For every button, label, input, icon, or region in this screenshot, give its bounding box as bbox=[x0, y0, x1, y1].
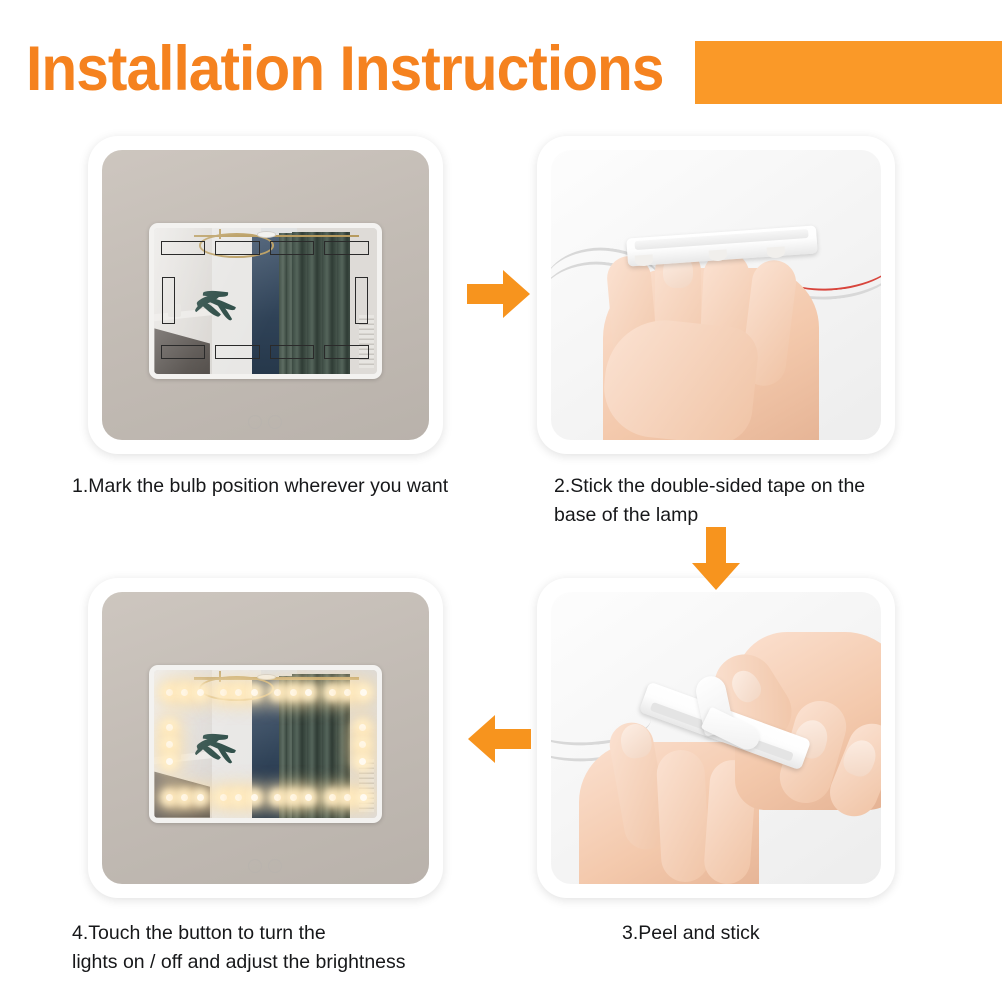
bulb-mark-top-4 bbox=[324, 241, 368, 256]
step-2-photo bbox=[551, 150, 881, 440]
led-module-top-3 bbox=[270, 685, 314, 698]
arrow-left-icon bbox=[467, 713, 531, 765]
mirror-glass bbox=[154, 228, 376, 375]
bulb-mark-bottom-3 bbox=[270, 345, 314, 360]
led-module-left-1 bbox=[163, 720, 174, 767]
led-module-bottom-4 bbox=[324, 790, 368, 803]
step-1-photo bbox=[102, 150, 429, 440]
led-module-top-4 bbox=[324, 685, 368, 698]
mirror-frame bbox=[149, 223, 381, 380]
step-card-2 bbox=[537, 136, 895, 454]
page-title: Installation Instructions bbox=[26, 38, 664, 101]
led-module-bottom-1 bbox=[161, 790, 205, 803]
led-module-bottom-2 bbox=[215, 790, 259, 803]
bulb-mark-left-1 bbox=[162, 277, 174, 324]
bulb-mark-top-2 bbox=[215, 241, 259, 256]
hand-left-middle bbox=[656, 749, 711, 883]
bulb-mark-top-1 bbox=[161, 241, 205, 256]
step-3-photo bbox=[551, 592, 881, 884]
bulb-mark-top-3 bbox=[270, 241, 314, 256]
step-4-photo bbox=[102, 592, 429, 884]
step-3-caption: 3.Peel and stick bbox=[622, 919, 922, 948]
led-module-top-1 bbox=[161, 685, 205, 698]
bulb-mark-right-1 bbox=[355, 277, 367, 324]
mirror-touch-buttons-2[interactable] bbox=[246, 859, 289, 868]
step-1-caption: 1.Mark the bulb position wherever you wa… bbox=[72, 472, 492, 501]
step-card-1 bbox=[88, 136, 443, 454]
bulb-mark-bottom-4 bbox=[324, 345, 368, 360]
step-card-4 bbox=[88, 578, 443, 898]
led-module-right-1 bbox=[357, 720, 368, 767]
led-module-bottom-3 bbox=[270, 790, 314, 803]
bulb-mark-bottom-1 bbox=[161, 345, 205, 360]
bulb-mark-bottom-2 bbox=[215, 345, 259, 360]
mirror-glass-2 bbox=[154, 670, 376, 818]
led-module-top-2 bbox=[215, 685, 259, 698]
mirror-unlit bbox=[149, 223, 381, 380]
arrow-right-icon bbox=[467, 268, 531, 320]
mirror-touch-buttons[interactable] bbox=[246, 415, 289, 424]
header-accent-block bbox=[695, 41, 1002, 104]
mirror-lit bbox=[149, 665, 381, 823]
step-card-3 bbox=[537, 578, 895, 898]
mirror-frame-2 bbox=[149, 665, 381, 823]
arrow-down-icon bbox=[690, 527, 742, 591]
step-4-caption: 4.Touch the button to turn the lights on… bbox=[72, 919, 472, 977]
page-header: Installation Instructions bbox=[0, 0, 1002, 128]
step-2-caption: 2.Stick the double-sided tape on the bas… bbox=[554, 472, 894, 530]
